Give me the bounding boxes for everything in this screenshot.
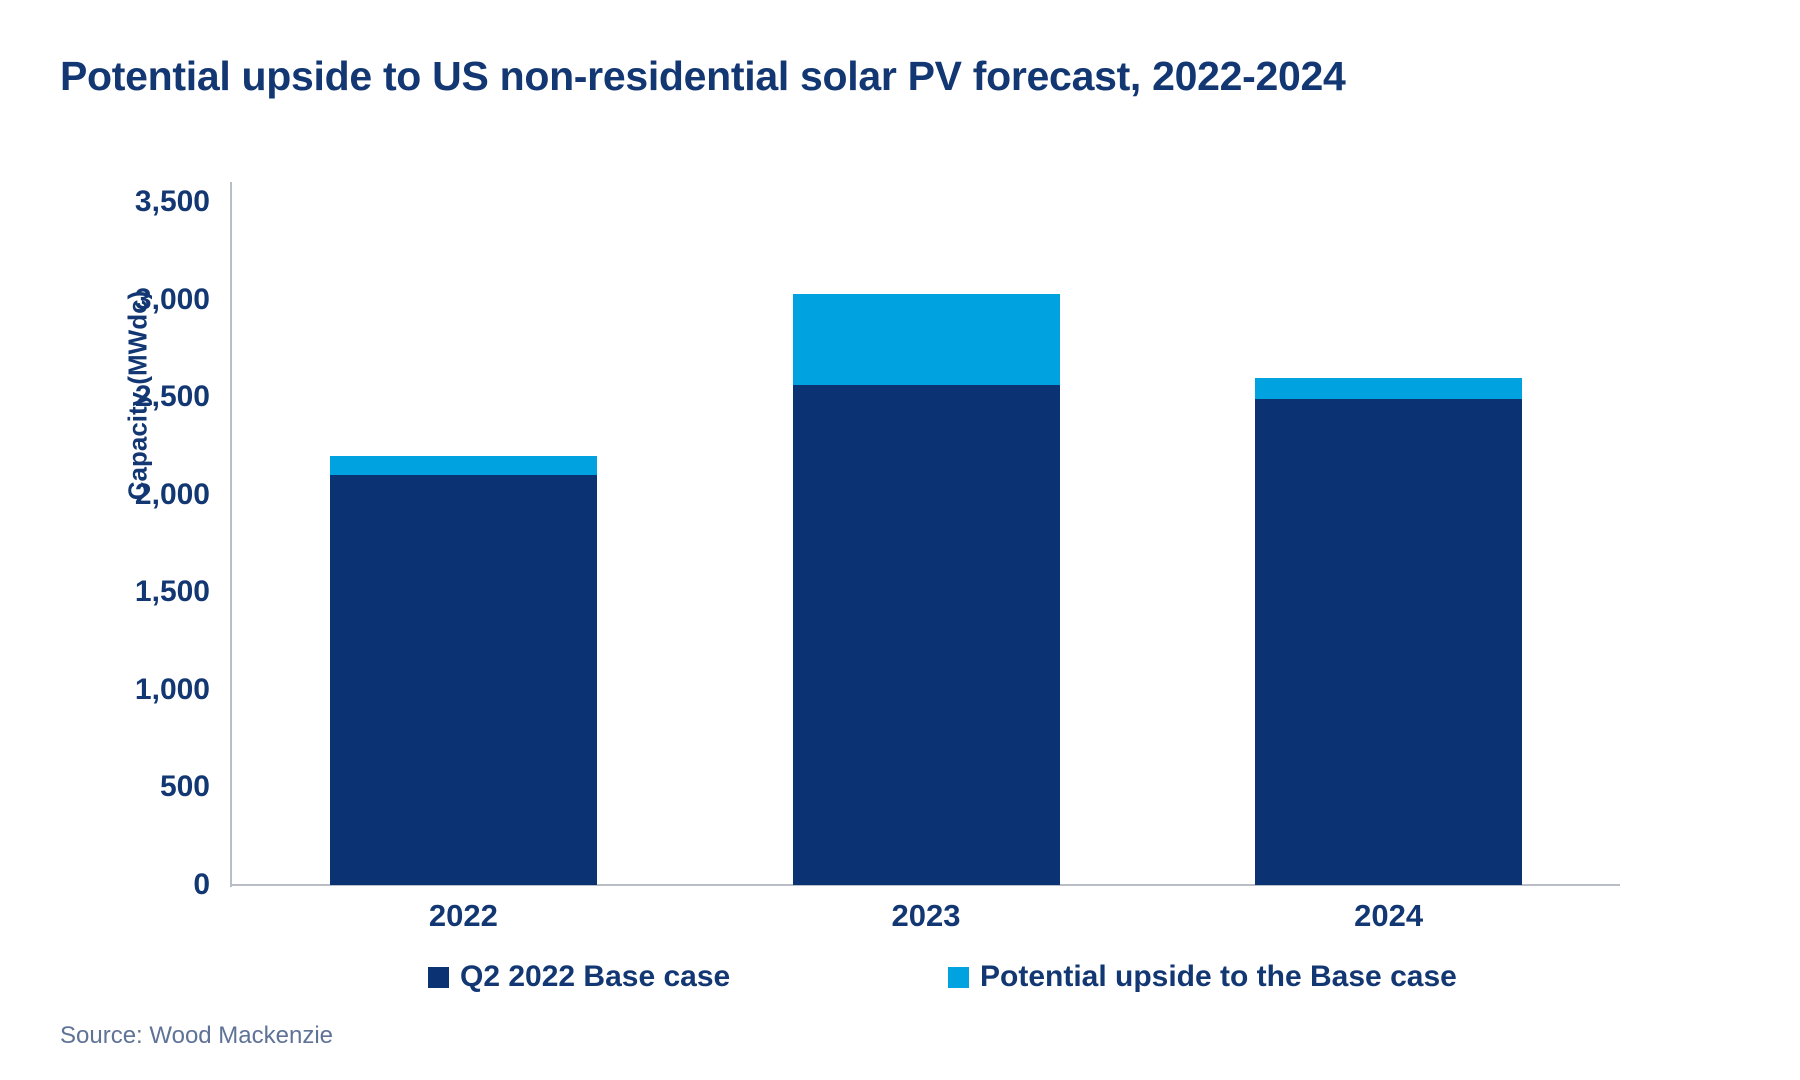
legend-swatch-icon-2 xyxy=(948,967,969,988)
x-axis-tick-2023: 2023 xyxy=(776,898,1076,934)
legend-item-1[interactable]: Q2 2022 Base case xyxy=(428,962,730,992)
chart-root: Potential upside to US non-residential s… xyxy=(0,0,1800,1080)
legend-item-2[interactable]: Potential upside to the Base case xyxy=(948,962,1457,992)
x-axis-tick-labels: 202220232024 xyxy=(0,0,1800,1080)
x-axis-tick-2022: 2022 xyxy=(313,898,613,934)
source-note: Source: Wood Mackenzie xyxy=(60,1022,333,1050)
legend-swatch-icon-1 xyxy=(428,967,449,988)
legend-label-2: Potential upside to the Base case xyxy=(980,962,1457,992)
chart-legend: Q2 2022 Base casePotential upside to the… xyxy=(230,962,1620,1004)
legend-label-1: Q2 2022 Base case xyxy=(460,962,730,992)
x-axis-tick-2024: 2024 xyxy=(1239,898,1539,934)
